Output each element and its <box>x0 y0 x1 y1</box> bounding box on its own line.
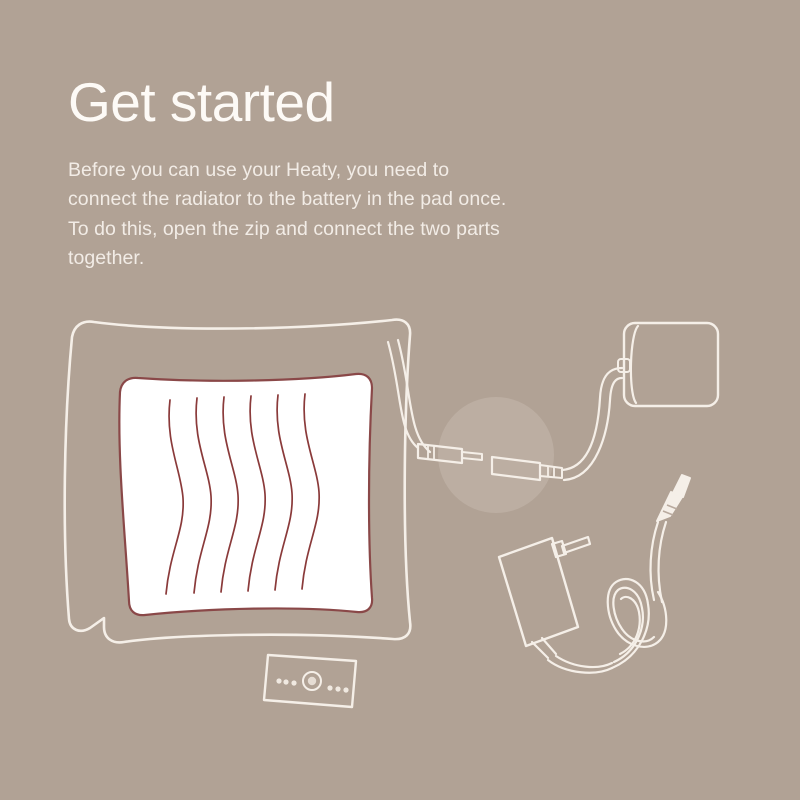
illustration-canvas <box>0 282 800 752</box>
indicator-dot <box>343 687 348 692</box>
description-line-3: To do this, open the zip and connect the… <box>68 215 628 245</box>
battery-pack-body <box>624 323 718 406</box>
get-started-page: Get started Before you can use your Heat… <box>0 0 800 800</box>
prong-pin <box>562 537 590 553</box>
page-description: Before you can use your Heaty, you need … <box>68 156 628 275</box>
indicator-dots-right <box>327 685 348 692</box>
description-line-4: together. <box>68 244 628 274</box>
connector-highlight-circle <box>438 397 554 513</box>
page-title: Get started <box>68 72 668 134</box>
heaty-setup-illustration <box>0 282 800 752</box>
indicator-dot <box>327 685 332 690</box>
control-panel[interactable] <box>264 655 356 707</box>
battery-pack-edge <box>631 326 638 403</box>
indicator-dot <box>283 679 288 684</box>
adapter-plug-tip <box>657 475 690 521</box>
indicator-dots-left <box>276 678 296 685</box>
text-block: Get started Before you can use your Heat… <box>68 72 668 274</box>
adapter-plug-pin <box>673 475 690 497</box>
indicator-dot <box>335 686 340 691</box>
description-line-1: Before you can use your Heaty, you need … <box>68 156 628 186</box>
indicator-dot <box>276 678 281 683</box>
pad-plug-rings <box>428 445 434 460</box>
power-icon <box>308 677 316 685</box>
heating-pad <box>119 374 372 615</box>
description-line-2: connect the radiator to the battery in t… <box>68 185 628 215</box>
battery-pack <box>618 323 718 406</box>
power-adapter <box>499 537 590 646</box>
radiator-cable <box>562 368 622 480</box>
indicator-dot <box>291 680 296 685</box>
